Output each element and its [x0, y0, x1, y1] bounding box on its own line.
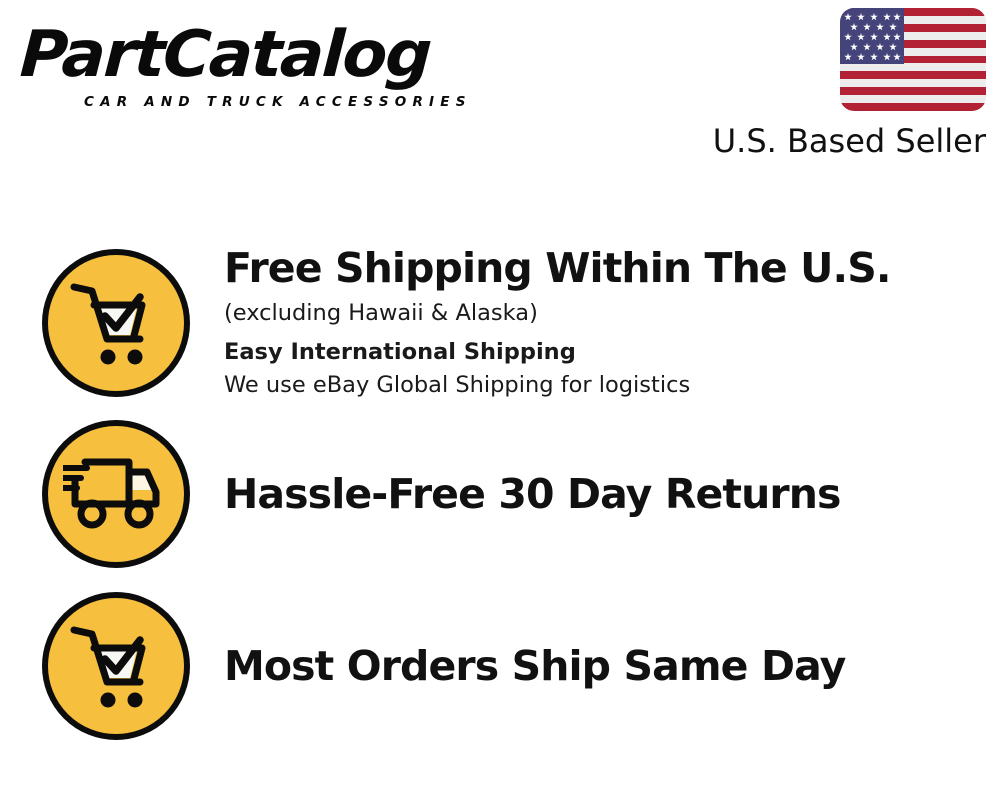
delivery-truck-icon	[42, 420, 190, 568]
feature-text: Free Shipping Within The U.S. (excluding…	[224, 244, 1000, 402]
brand-logo[interactable]: PartCatalog CAR AND TRUCK ACCESSORIES	[22, 22, 492, 112]
feature-row: Most Orders Ship Same Day	[0, 590, 1000, 742]
us-flag-icon	[840, 8, 986, 111]
feature-title: Most Orders Ship Same Day	[224, 642, 980, 690]
feature-row: Free Shipping Within The U.S. (excluding…	[0, 243, 1000, 403]
brand-wordmark: PartCatalog	[18, 22, 501, 88]
feature-subtext-international-heading: Easy International Shipping	[224, 336, 980, 369]
us-based-seller-label: U.S. Based Seller	[711, 122, 986, 160]
feature-row: Hassle-Free 30 Day Returns	[0, 418, 1000, 570]
page-header: PartCatalog CAR AND TRUCK ACCESSORIES	[0, 0, 1000, 175]
flag-canton	[840, 8, 904, 64]
feature-title: Free Shipping Within The U.S.	[224, 244, 980, 292]
feature-text: Hassle-Free 30 Day Returns	[224, 470, 1000, 518]
shopping-cart-check-icon	[42, 249, 190, 397]
brand-tagline: CAR AND TRUCK ACCESSORIES	[84, 94, 472, 110]
feature-title: Hassle-Free 30 Day Returns	[224, 470, 980, 518]
feature-subtext-exclusions: (excluding Hawaii & Alaska)	[224, 297, 980, 330]
us-based-seller-badge: U.S. Based Seller	[711, 8, 986, 160]
feature-subtext-international-detail: We use eBay Global Shipping for logistic…	[224, 369, 980, 402]
feature-text: Most Orders Ship Same Day	[224, 642, 1000, 690]
shopping-cart-check-icon	[42, 592, 190, 740]
